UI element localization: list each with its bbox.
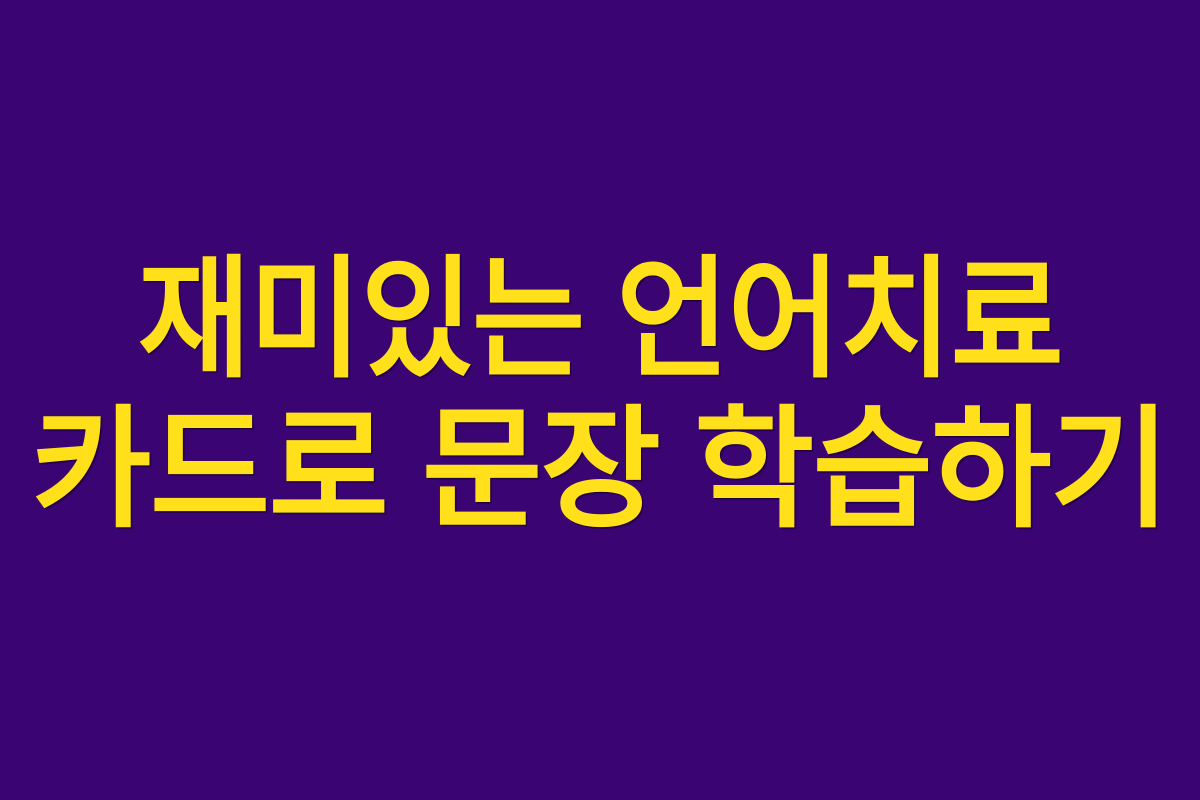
title-banner: 재미있는 언어치료 카드로 문장 학습하기	[0, 0, 1200, 800]
title-line-2: 카드로 문장 학습하기	[6, 404, 1194, 536]
title-line-1: 재미있는 언어치료	[42, 254, 1158, 386]
title-block: 재미있는 언어치료 카드로 문장 학습하기	[0, 254, 1200, 536]
